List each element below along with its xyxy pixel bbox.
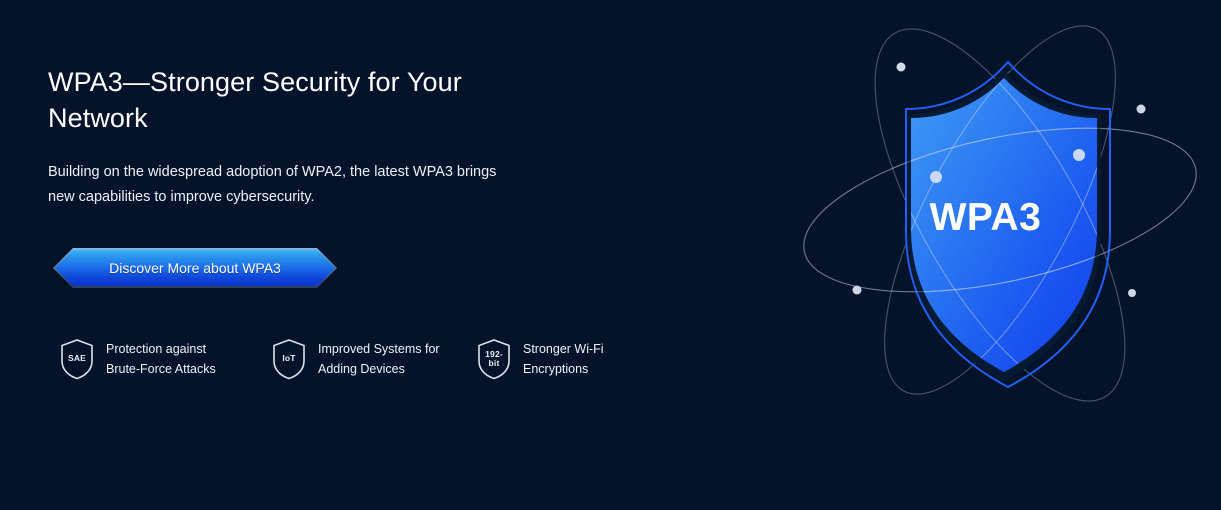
feature-label-line-1: Stronger Wi-Fi bbox=[523, 339, 604, 359]
orbit-dot bbox=[1073, 149, 1085, 161]
feature-label-line-2: Adding Devices bbox=[318, 359, 440, 379]
feature-label-sae: Protection against Brute-Force Attacks bbox=[106, 339, 216, 379]
badge-line: SAE bbox=[68, 354, 86, 364]
badge-line: bit bbox=[489, 359, 500, 369]
page-title: WPA3—Stronger Security for Your Network bbox=[48, 64, 518, 136]
shield-sae-text: SAE bbox=[58, 337, 96, 381]
orbit-dot bbox=[1137, 105, 1146, 114]
shield-sae-icon: SAE bbox=[58, 337, 96, 381]
shield-192bit-icon: 192- bit bbox=[475, 337, 513, 381]
feature-item-192bit: 192- bit Stronger Wi-Fi Encryptions bbox=[475, 337, 675, 381]
discover-more-button[interactable] bbox=[55, 250, 335, 286]
feature-item-iot: IoT Improved Systems for Adding Devices bbox=[270, 337, 475, 381]
wpa3-hero-section: WPA3—Stronger Security for Your Network … bbox=[0, 0, 1221, 510]
hero-subcopy: Building on the widespread adoption of W… bbox=[48, 160, 500, 210]
feature-label-line-1: Improved Systems for bbox=[318, 339, 440, 359]
feature-label-line-2: Brute-Force Attacks bbox=[106, 359, 216, 379]
feature-list: SAE Protection against Brute-Force Attac… bbox=[58, 337, 675, 381]
wpa3-shield-graphic: WPA3 bbox=[760, 0, 1221, 470]
feature-label-line-1: Protection against bbox=[106, 339, 216, 359]
discover-more-button-wrapper[interactable]: Discover More about WPA3 bbox=[55, 250, 335, 286]
shield-iot-icon: IoT bbox=[270, 337, 308, 381]
shield-192bit-text: 192- bit bbox=[475, 337, 513, 381]
orbit-dot bbox=[897, 63, 906, 72]
feature-label-iot: Improved Systems for Adding Devices bbox=[318, 339, 440, 379]
orbit-dot bbox=[930, 171, 942, 183]
feature-label-192bit: Stronger Wi-Fi Encryptions bbox=[523, 339, 604, 379]
shield-iot-text: IoT bbox=[270, 337, 308, 381]
orbit-dot bbox=[1128, 289, 1136, 297]
orbit-dot bbox=[853, 286, 862, 295]
badge-line: IoT bbox=[282, 354, 295, 364]
feature-label-line-2: Encryptions bbox=[523, 359, 604, 379]
hero-copy-block: WPA3—Stronger Security for Your Network … bbox=[48, 64, 518, 210]
feature-item-sae: SAE Protection against Brute-Force Attac… bbox=[58, 337, 270, 381]
